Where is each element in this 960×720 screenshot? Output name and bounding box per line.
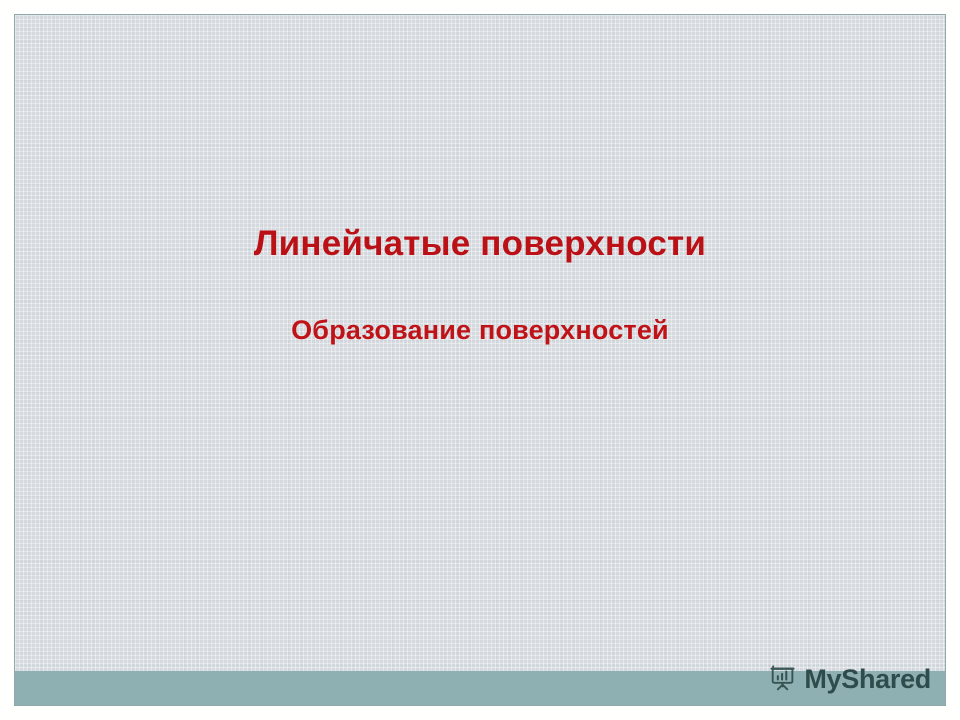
presentation-chart-easel-icon — [768, 664, 798, 694]
watermark-label: MyShared — [804, 664, 931, 694]
slide-root: Линейчатые поверхности Образование повер… — [0, 0, 960, 720]
slide-title: Линейчатые поверхности — [15, 222, 945, 266]
slide-background-texture — [15, 15, 945, 705]
watermark: MyShared — [768, 661, 931, 697]
presentation-slide: Линейчатые поверхности Образование повер… — [14, 14, 946, 706]
slide-subtitle: Образование поверхностей — [15, 312, 945, 348]
